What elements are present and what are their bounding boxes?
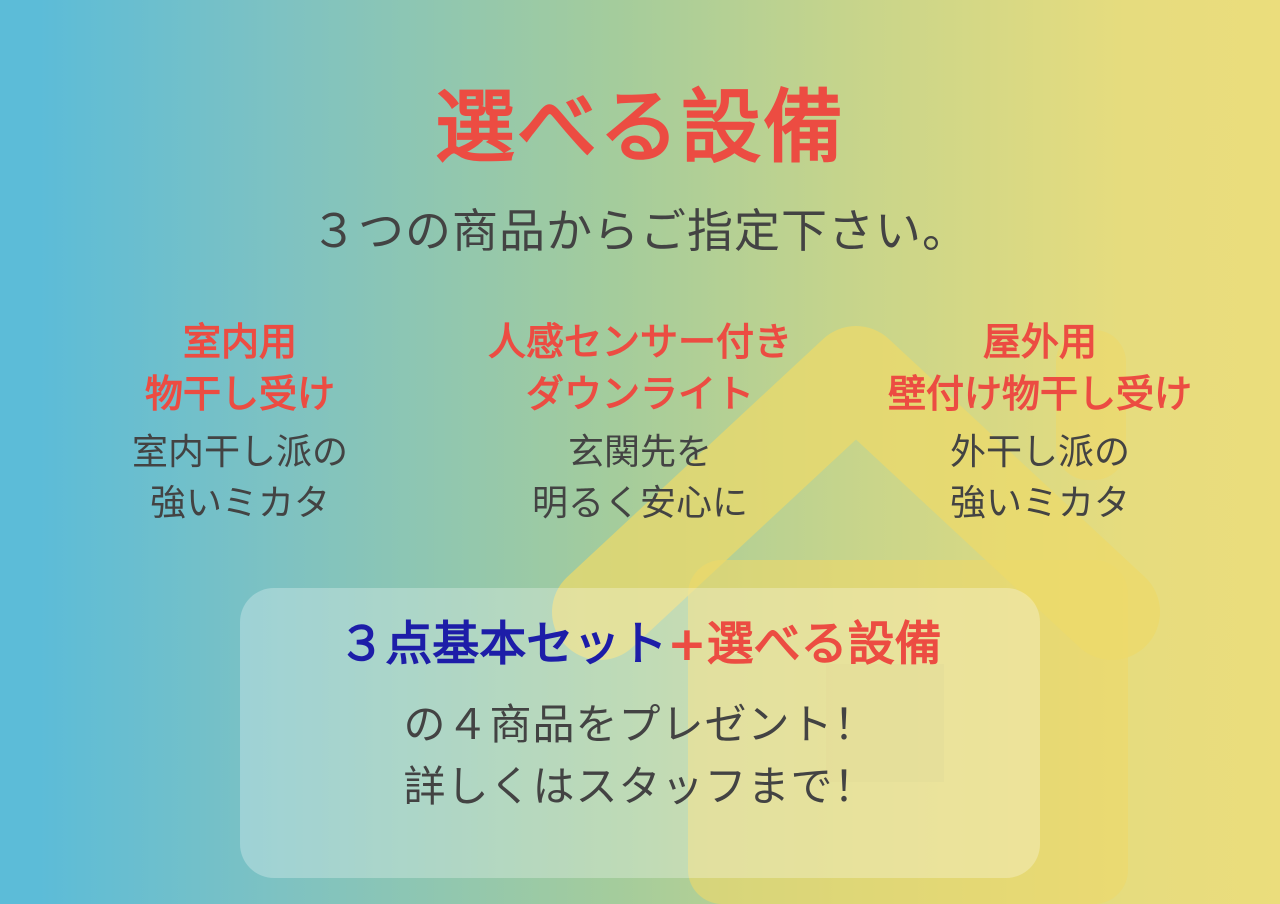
option-title: 屋外用 壁付け物干し受け (844, 316, 1236, 421)
option-desc-line1: 玄関先を (444, 427, 836, 478)
option-desc-line2: 明るく安心に (444, 478, 836, 529)
option-desc-line2: 強いミカタ (44, 478, 436, 529)
promo-detail-line-2: 詳しくはスタッフまで！ (240, 762, 1040, 812)
option-description: 室内干し派の 強いミカタ (44, 427, 436, 529)
option-desc-line1: 外干し派の (844, 427, 1236, 478)
promo-headline-base: ３点基本セット (338, 617, 667, 672)
option-title-line1: 人感センサー付き (444, 316, 836, 368)
promotional-banner: 選べる設備 ３つの商品からご指定下さい。 室内用 物干し受け 室内干し派の 強い… (0, 0, 1280, 904)
option-desc-line2: 強いミカタ (844, 478, 1236, 529)
option-title: 室内用 物干し受け (44, 316, 436, 421)
promo-headline-accent: +選べる設備 (667, 617, 941, 672)
page-title: 選べる設備 (0, 86, 1280, 171)
option-description: 外干し派の 強いミカタ (844, 427, 1236, 529)
promo-headline: ３点基本セット+選べる設備 (240, 618, 1040, 672)
page-subtitle: ３つの商品からご指定下さい。 (0, 204, 1280, 259)
option-title-line2: 壁付け物干し受け (844, 368, 1236, 420)
option-card-outdoor[interactable]: 屋外用 壁付け物干し受け 外干し派の 強いミカタ (840, 316, 1240, 529)
option-columns: 室内用 物干し受け 室内干し派の 強いミカタ 人感センサー付き ダウンライト 玄… (40, 316, 1240, 529)
promo-detail-line-1: の４商品をプレゼント！ (240, 700, 1040, 750)
option-title-line2: 物干し受け (44, 368, 436, 420)
option-description: 玄関先を 明るく安心に (444, 427, 836, 529)
option-title-line2: ダウンライト (444, 368, 836, 420)
option-desc-line1: 室内干し派の (44, 427, 436, 478)
option-title-line1: 室内用 (44, 316, 436, 368)
option-card-downlight[interactable]: 人感センサー付き ダウンライト 玄関先を 明るく安心に (440, 316, 840, 529)
option-card-indoor[interactable]: 室内用 物干し受け 室内干し派の 強いミカタ (40, 316, 440, 529)
option-title-line1: 屋外用 (844, 316, 1236, 368)
option-title: 人感センサー付き ダウンライト (444, 316, 836, 421)
